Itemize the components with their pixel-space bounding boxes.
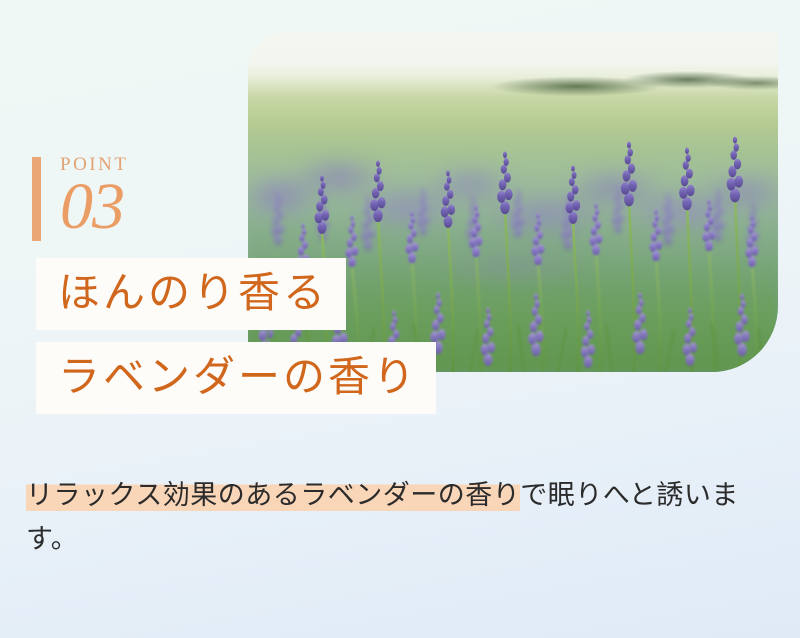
point-number: 03 <box>60 176 128 239</box>
point-accent-bar <box>32 157 41 241</box>
headline-line-1: ほんのり香る <box>36 258 346 330</box>
headline-line-2: ラベンダーの香り <box>36 342 436 414</box>
body-copy-highlighted: リラックス効果のあるラベンダーの香り <box>26 480 520 511</box>
promo-panel: POINT 03 ほんのり香る ラベンダーの香り リラックス効果のあるラベンダー… <box>0 0 800 638</box>
body-copy: リラックス効果のあるラベンダーの香りで眠りへと誘います。 <box>26 474 766 561</box>
point-block: POINT 03 <box>32 157 128 241</box>
point-text: POINT 03 <box>60 155 128 239</box>
